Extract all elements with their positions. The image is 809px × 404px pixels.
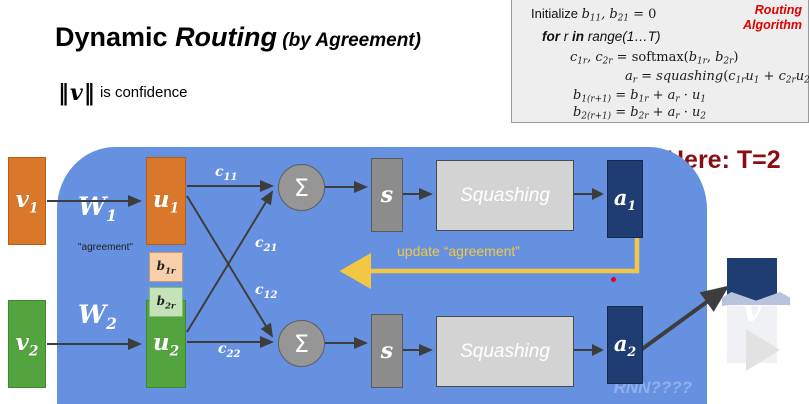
algorithm-line-b1-update: b1(r+1) = b1r + ar · u1: [573, 88, 706, 104]
algorithm-title-line2: Algorithm: [743, 18, 802, 33]
algorithm-title: Routing Algorithm: [743, 3, 802, 33]
title-routing: Routing: [175, 22, 277, 52]
cursor-dot: [611, 277, 616, 282]
agreement-caption: "agreement": [78, 242, 133, 253]
play-icon: [746, 329, 780, 371]
bias-box-b1r[interactable]: b1r: [149, 252, 183, 282]
summation-node-1: Σ: [278, 164, 325, 211]
b2r-label: b2r: [157, 294, 176, 310]
player-foot-left: [733, 391, 746, 403]
s1-label: s: [381, 182, 393, 208]
player-foot-right: [772, 391, 785, 403]
output-vector-a1[interactable]: a1: [607, 160, 643, 238]
u2-label: u2: [153, 329, 179, 360]
a2-label: a2: [614, 331, 636, 359]
title-by-agreement: (by Agreement): [277, 30, 421, 51]
page-title: Dynamic Routing (by Agreement): [55, 22, 421, 53]
norm-v-symbol: ‖𝒗‖: [58, 80, 96, 106]
squashing-box-1: Squashing: [436, 160, 574, 231]
algorithm-line-initialize: Initialize b11, b21 = 0: [531, 6, 656, 23]
coupling-coeff-c21: c21: [255, 235, 278, 254]
a1-label: a1: [614, 185, 636, 213]
b1r-label: b1r: [157, 259, 176, 275]
algorithm-line-softmax: c1r, c2r = softmax(b1r, b2r): [570, 50, 738, 66]
coupling-coeff-c12: c12: [255, 282, 278, 301]
input-vector-v2[interactable]: v2: [8, 300, 46, 388]
s-box-2: s: [371, 314, 403, 388]
output-vector-a2[interactable]: a2: [607, 306, 643, 384]
algorithm-line-squashing: ar = squashing(c1ru1 + c2ru2): [625, 69, 809, 85]
summation-node-2: Σ: [278, 320, 325, 367]
coupling-coeff-c11: c11: [215, 164, 238, 183]
update-agreement-label: update “agreement”: [397, 243, 520, 259]
v2-label: v2: [16, 329, 39, 360]
v1-label: v1: [16, 186, 39, 217]
algorithm-line-b2-update: b2(r+1) = b2r + ar · u2: [573, 105, 706, 121]
title-dynamic: Dynamic: [55, 22, 175, 52]
initialize-word: Initialize: [531, 6, 582, 21]
u1-label: u1: [153, 186, 179, 217]
sigma-icon: Σ: [294, 176, 309, 200]
input-vector-v1[interactable]: v1: [8, 157, 46, 245]
sigma-icon: Σ: [294, 332, 309, 356]
confidence-note: ‖𝒗‖ is confidence: [58, 80, 188, 106]
unit-vector-u1[interactable]: u1: [146, 157, 186, 245]
algorithm-title-line1: Routing: [743, 3, 802, 18]
squashing-label-1: Squashing: [460, 185, 550, 207]
weight-matrix-w1: W1: [78, 192, 117, 225]
s2-label: s: [381, 338, 393, 364]
s-box-1: s: [371, 158, 403, 232]
confidence-text: is confidence: [100, 84, 188, 101]
weight-matrix-w2: W2: [78, 300, 117, 333]
coupling-coeff-c22: c22: [218, 341, 241, 360]
play-button[interactable]: [711, 305, 805, 395]
routing-algorithm-box: Routing Algorithm Initialize b11, b21 = …: [511, 0, 809, 123]
algorithm-line-for: for r in range(1…T): [542, 29, 661, 44]
squashing-label-2: Squashing: [460, 341, 550, 363]
bias-box-b2r[interactable]: b2r: [149, 287, 183, 317]
squashing-box-2: Squashing: [436, 316, 574, 387]
